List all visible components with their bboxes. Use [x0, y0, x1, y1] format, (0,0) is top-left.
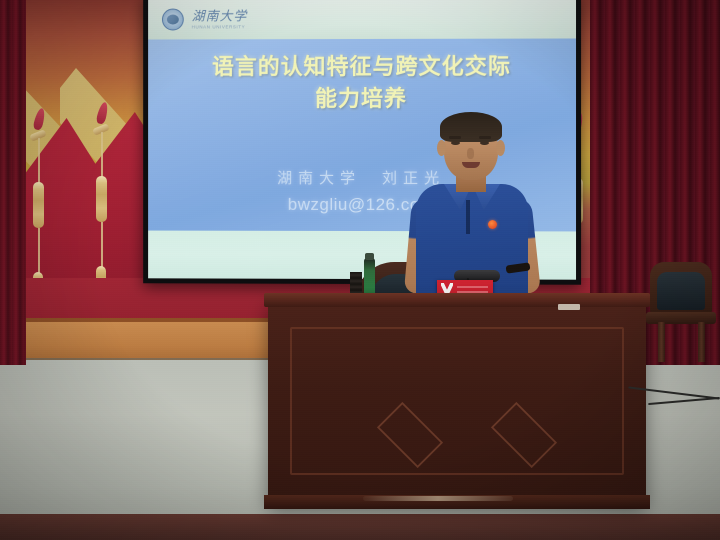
university-name-latin: HUNAN UNIVERSITY [192, 25, 248, 30]
banner-cord-1b [38, 228, 40, 276]
banner-cord-1 [38, 138, 40, 186]
side-chair-seat [646, 312, 716, 324]
lectern-label-plate [558, 304, 580, 310]
banner-cord-2b [101, 222, 103, 270]
stage-front-edge [0, 514, 720, 540]
side-chair-leg-left [658, 322, 665, 362]
presenter-shirt-placket [466, 200, 470, 234]
side-chair-leg-right [698, 322, 705, 362]
side-chair-cushion [657, 272, 705, 310]
side-chair [644, 262, 718, 362]
university-emblem-icon [162, 9, 184, 31]
banner-tassel-1 [33, 182, 44, 228]
slide-title-line-1: 语言的认知特征与跨文化交际 [160, 51, 564, 84]
lectern [268, 301, 646, 505]
lectern-front-panel [290, 327, 624, 475]
presenter-nose [467, 148, 474, 159]
slide-header-band: 湖南大学 HUNAN UNIVERSITY [148, 0, 576, 39]
banner-tassel-2 [96, 176, 107, 222]
slide-title: 语言的认知特征与跨文化交际 能力培养 [148, 51, 576, 115]
lectern-scuff-mark [363, 496, 513, 501]
university-name: 湖南大学 [192, 9, 248, 22]
presenter-ear-right [496, 140, 505, 156]
banner-cord-2 [101, 132, 103, 180]
presenter-brow-left [449, 136, 461, 139]
lecture-hall-photo: 湖南大学 HUNAN UNIVERSITY 语言的认知特征与跨文化交际 能力培养… [0, 0, 720, 540]
lectern-top-rail [264, 293, 650, 307]
presenter-eye-left [451, 141, 460, 145]
lectern-diamond-right [491, 402, 557, 468]
lapel-badge-icon [488, 220, 497, 229]
curtain-left [0, 0, 26, 365]
presenter-brow-right [479, 136, 491, 139]
water-bottle-cap [365, 253, 374, 260]
presenter-eye-right [480, 141, 489, 145]
lectern-diamond-left [377, 402, 443, 468]
slide-title-line-2: 能力培养 [160, 83, 564, 115]
presenter-ear-left [437, 140, 446, 156]
